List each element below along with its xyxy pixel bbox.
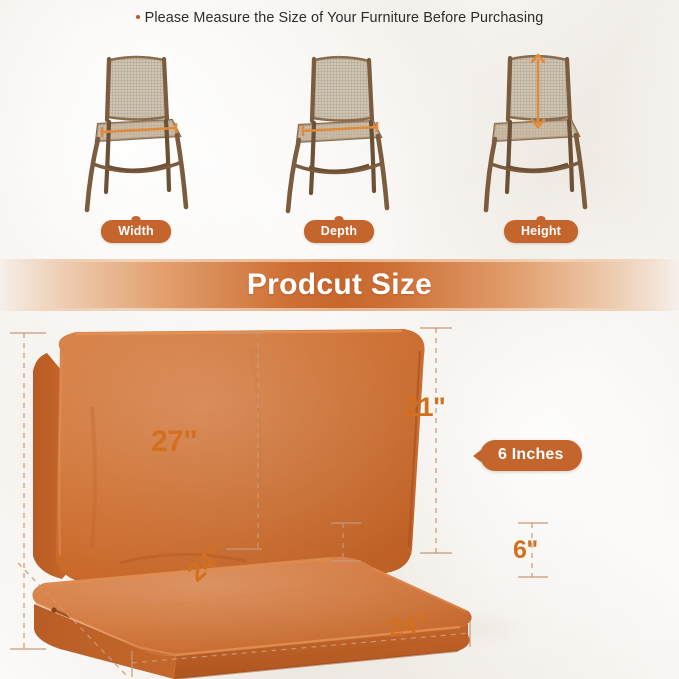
dimension-6: 6" — [513, 536, 538, 565]
cushion-illustration — [0, 311, 679, 679]
badge-depth[interactable]: Depth — [304, 220, 374, 243]
measure-note: Please Measure the Size of Your Furnitur… — [0, 10, 679, 26]
measure-note-text: Please Measure the Size of Your Furnitur… — [145, 10, 544, 26]
depth-label-wrap: Depth — [239, 220, 439, 243]
six-inches-callout[interactable]: 6 Inches — [473, 440, 582, 471]
bullet-dot-icon — [136, 15, 140, 19]
width-label-wrap: Width — [36, 220, 236, 243]
dimension-21: 21" — [404, 392, 445, 423]
callout-label: 6 Inches — [480, 440, 582, 471]
badge-height[interactable]: Height — [504, 220, 578, 243]
banner-edge-top — [0, 259, 679, 262]
badge-width[interactable]: Width — [101, 220, 171, 243]
chair-illustration-row — [0, 44, 679, 220]
product-diagram — [0, 311, 679, 679]
chair-height — [441, 44, 641, 220]
dimension-width-24: 24" — [387, 608, 430, 644]
section-banner: Prodcut Size — [0, 259, 679, 311]
chair-width — [36, 44, 236, 220]
height-label-wrap: Height — [441, 220, 641, 243]
banner-title: Prodcut Size — [247, 268, 432, 302]
dimension-27: 27" — [151, 425, 197, 459]
chair-depth — [239, 44, 439, 220]
